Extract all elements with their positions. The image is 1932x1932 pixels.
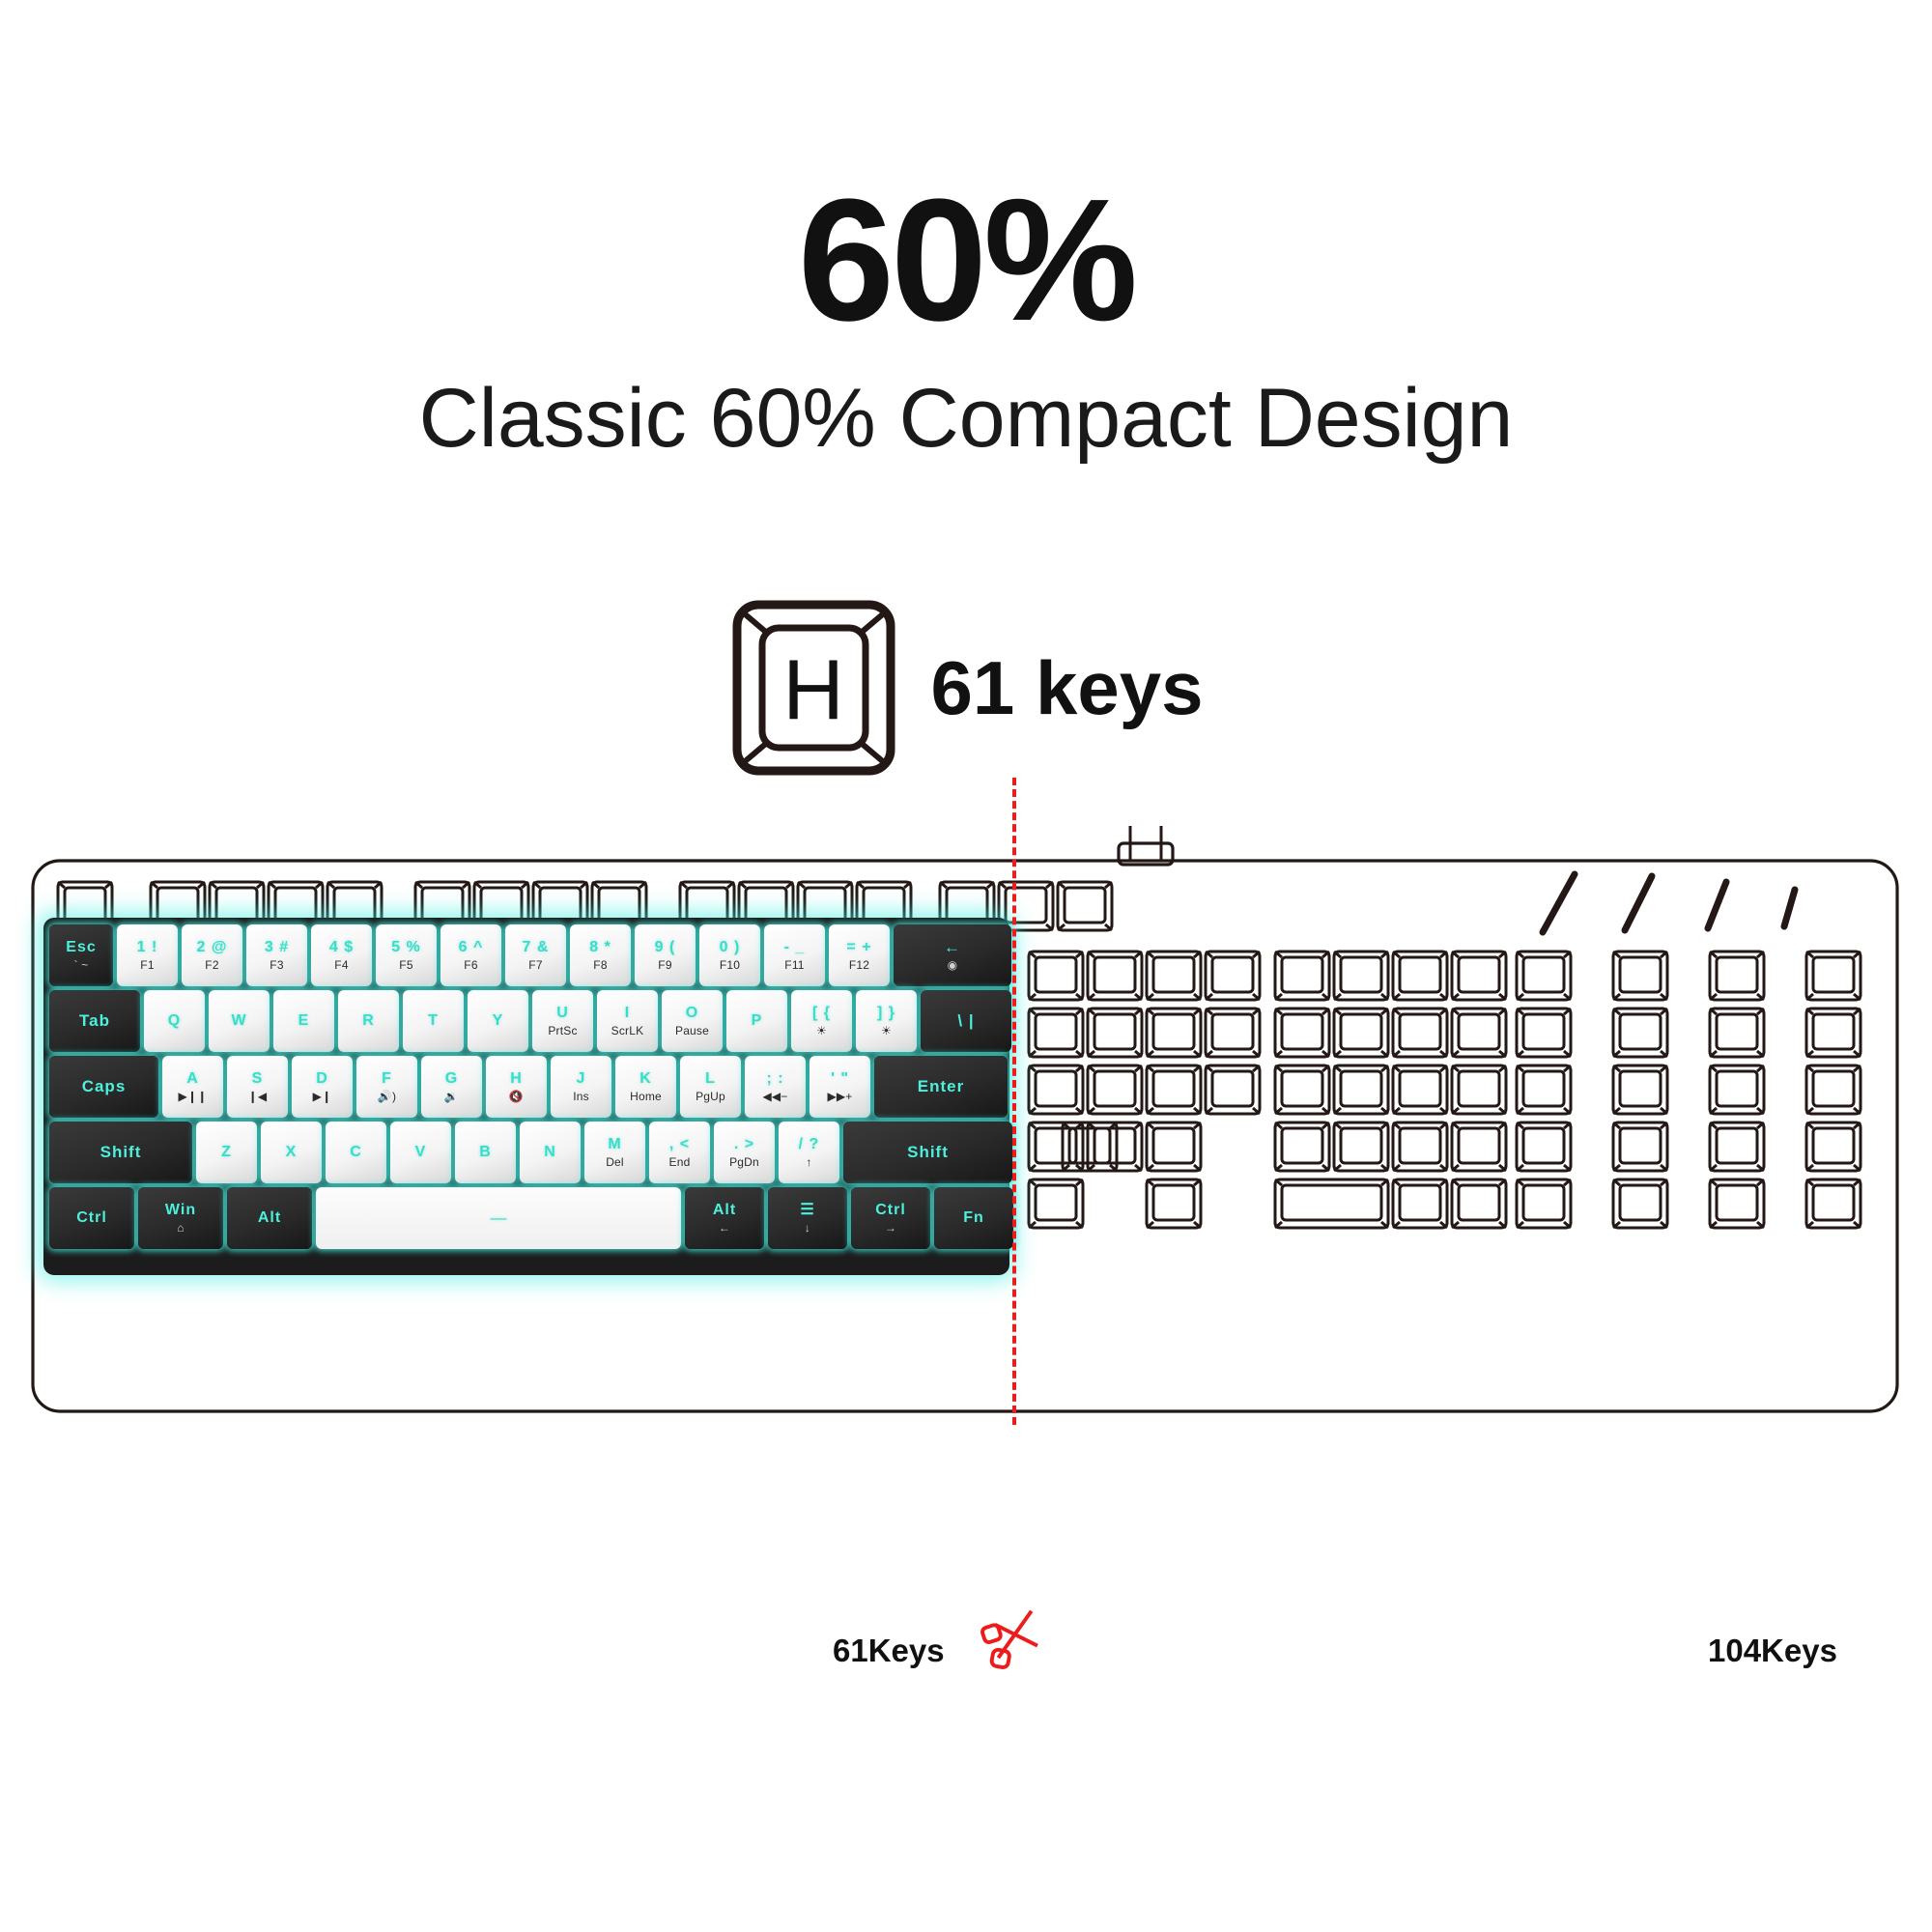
key-tab-1-0[interactable]: Tab — [49, 990, 140, 1052]
key-legend-secondary: ◀◀− — [762, 1091, 787, 1103]
key-legend-primary: , < — [669, 1137, 690, 1153]
keyboard-composite: Esc` ~1 !F12 @F23 #F34 $F45 %F56 ^F67 &F… — [29, 826, 1913, 1444]
key-legend-secondary: ◉ — [948, 959, 958, 972]
key-legend-primary: J — [577, 1071, 586, 1088]
outline-key — [1613, 1065, 1667, 1114]
key-esc-0-0[interactable]: Esc` ~ — [49, 924, 113, 986]
outline-key — [1393, 1009, 1447, 1057]
key-legend-secondary: F4 — [334, 959, 348, 972]
key-legend-secondary: F11 — [784, 959, 804, 972]
key-legend-primary: G — [445, 1071, 458, 1088]
outline-key — [1393, 1179, 1447, 1228]
key-a-2-1[interactable]: A▶❙❙ — [162, 1056, 223, 1118]
outline-key — [1452, 1179, 1506, 1228]
key-key-1-12[interactable]: ] }☀ — [856, 990, 917, 1052]
key-ctrl-4-0[interactable]: Ctrl — [49, 1187, 134, 1249]
key-g-2-5[interactable]: G🔉 — [421, 1056, 482, 1118]
key-legend-primary: X — [286, 1145, 298, 1161]
key-key-0-13[interactable]: ←◉ — [894, 924, 1011, 986]
outline-key — [1613, 1122, 1667, 1171]
page-subtitle: Classic 60% Compact Design — [0, 377, 1932, 460]
outline-key — [1334, 952, 1388, 1000]
outline-key — [1206, 1009, 1260, 1057]
outline-key — [1710, 1179, 1764, 1228]
key-legend-primary: R — [362, 1013, 375, 1030]
key-legend-primary: \ | — [957, 1012, 974, 1030]
key-h-2-6[interactable]: H🔇 — [486, 1056, 547, 1118]
key-legend-primary: 7 & — [523, 940, 550, 956]
key-shift-3-11[interactable]: Shift — [843, 1122, 1012, 1183]
key-k-2-8[interactable]: KHome — [615, 1056, 676, 1118]
outline-key — [1275, 952, 1329, 1000]
key-legend-primary: S — [252, 1071, 264, 1088]
key-legend-primary: Z — [221, 1145, 232, 1161]
caption-61-keys: 61Keys — [833, 1633, 945, 1669]
key-key-2-11[interactable]: ' "▶▶+ — [810, 1056, 870, 1118]
key-shift-3-0[interactable]: Shift — [49, 1122, 192, 1183]
key-enter-2-12[interactable]: Enter — [874, 1056, 1008, 1118]
outline-key — [1029, 1179, 1083, 1228]
outline-key — [1806, 1179, 1861, 1228]
key-legend-primary: ] } — [877, 1006, 895, 1022]
key-legend-primary: . > — [734, 1137, 754, 1153]
speed-lines — [1543, 874, 1795, 932]
key-legend-primary: 9 ( — [655, 940, 676, 956]
key-legend-secondary: ▶▶+ — [827, 1091, 852, 1103]
key-legend-secondary: F6 — [464, 959, 477, 972]
key-legend-primary: 8 * — [589, 940, 611, 956]
key-legend-secondary: PgDn — [729, 1156, 759, 1169]
badge-label: 61 keys — [931, 644, 1204, 732]
outline-key — [1063, 1122, 1117, 1171]
key-ctrl-4-6[interactable]: Ctrl→ — [851, 1187, 930, 1249]
key-legend-secondary: ↑ — [806, 1156, 811, 1169]
key-legend-primary: D — [316, 1071, 328, 1088]
outline-key — [1206, 1065, 1260, 1114]
outline-key — [1275, 1122, 1329, 1171]
key-u-1-7[interactable]: UPrtSc — [532, 990, 593, 1052]
key-key-0-11[interactable]: - _F11 — [764, 924, 825, 986]
key-legend-primary: P — [752, 1013, 763, 1030]
outline-key — [1275, 1065, 1329, 1114]
outline-key — [1613, 952, 1667, 1000]
key-legend-primary: U — [556, 1006, 569, 1022]
key-win-4-1[interactable]: Win⌂ — [138, 1187, 223, 1249]
key-f-2-4[interactable]: F🔊) — [356, 1056, 417, 1118]
outline-key — [1334, 1065, 1388, 1114]
outline-key — [1147, 1122, 1201, 1171]
key-b-3-5[interactable]: B — [455, 1122, 516, 1183]
key-legend-primary: T — [428, 1013, 439, 1030]
key-legend-primary: ; : — [766, 1071, 783, 1088]
key-7-0-7[interactable]: 7 &F7 — [505, 924, 566, 986]
key-legend-primary: E — [298, 1013, 310, 1030]
key-legend-primary: K — [639, 1071, 652, 1088]
key-alt-4-4[interactable]: Alt← — [685, 1187, 764, 1249]
key-legend-primary: F — [382, 1071, 392, 1088]
key-legend-secondary: 🔇 — [509, 1091, 524, 1103]
key-key-3-10[interactable]: / ?↑ — [779, 1122, 839, 1183]
key-5-0-5[interactable]: 5 %F5 — [376, 924, 437, 986]
key-v-3-4[interactable]: V — [390, 1122, 451, 1183]
key-legend-secondary: ⌂ — [177, 1222, 184, 1235]
outline-key — [1029, 1009, 1083, 1057]
key-key-4-5[interactable]: ☰↓ — [768, 1187, 847, 1249]
key-9-0-9[interactable]: 9 (F9 — [635, 924, 696, 986]
key-key-3-9[interactable]: . >PgDn — [714, 1122, 775, 1183]
key-legend-secondary: ☀ — [816, 1025, 827, 1037]
caption-104-keys: 104Keys — [1708, 1633, 1837, 1669]
key-legend-primary: Shift — [907, 1144, 949, 1161]
outline-key — [1147, 1179, 1201, 1228]
key-legend-primary: Alt — [713, 1203, 736, 1219]
key-legend-secondary: ScrLK — [611, 1025, 644, 1037]
key-m-3-7[interactable]: MDel — [584, 1122, 645, 1183]
key-2-0-2[interactable]: 2 @F2 — [182, 924, 242, 986]
key-legend-secondary: F3 — [270, 959, 283, 972]
key-q-1-1[interactable]: Q — [144, 990, 205, 1052]
key-legend-primary: - _ — [784, 940, 806, 956]
outline-key — [1147, 1065, 1201, 1114]
key-legend-secondary: ↓ — [805, 1222, 810, 1235]
outline-key — [1517, 1009, 1571, 1057]
outline-key — [1275, 1179, 1388, 1228]
key-legend-primary: N — [544, 1145, 556, 1161]
key-z-3-1[interactable]: Z — [196, 1122, 257, 1183]
key-legend-secondary: ❙◀ — [248, 1091, 268, 1103]
key-n-3-6[interactable]: N — [520, 1122, 581, 1183]
cut-line — [1012, 778, 1016, 1425]
key-e-1-3[interactable]: E — [273, 990, 334, 1052]
key-legend-primary: ☰ — [800, 1203, 814, 1219]
outline-key — [1613, 1179, 1667, 1228]
key-legend-secondary: PrtSc — [548, 1025, 577, 1037]
outline-key — [1517, 1179, 1571, 1228]
key-legend-secondary: F1 — [140, 959, 154, 972]
key-x-3-2[interactable]: X — [261, 1122, 322, 1183]
key-4-0-4[interactable]: 4 $F4 — [311, 924, 372, 986]
outline-key — [1806, 1065, 1861, 1114]
key-legend-primary: C — [350, 1145, 362, 1161]
key-caps-2-0[interactable]: Caps — [49, 1056, 158, 1118]
key-key-3-8[interactable]: , <End — [649, 1122, 710, 1183]
key-legend-primary: Caps — [82, 1078, 127, 1095]
outline-key — [1029, 1065, 1083, 1114]
keycap-letter: H — [782, 641, 844, 737]
key-legend-primary: — — [491, 1209, 507, 1227]
key-legend-secondary: ` ~ — [74, 959, 89, 972]
key-row: ShiftZXCVBNMDel, <End. >PgDn/ ?↑Shift — [49, 1122, 1004, 1183]
outline-key — [1147, 952, 1201, 1000]
outline-key — [1334, 1009, 1388, 1057]
key-r-1-4[interactable]: R — [338, 990, 399, 1052]
key-p-1-10[interactable]: P — [726, 990, 787, 1052]
key-fn-4-7[interactable]: Fn — [934, 1187, 1013, 1249]
outline-key — [1517, 1065, 1571, 1114]
key-legend-primary: B — [479, 1145, 492, 1161]
key-legend-primary: Alt — [258, 1210, 281, 1227]
key-row: TabQWERTYUPrtScIScrLKOPauseP[ {☀] }☀\ | — [49, 990, 1004, 1052]
key-legend-primary: 4 $ — [329, 940, 354, 956]
key-legend-secondary: 🔉 — [444, 1091, 459, 1103]
key-legend-primary: V — [415, 1145, 427, 1161]
key-legend-secondary: End — [669, 1156, 691, 1169]
key-t-1-5[interactable]: T — [403, 990, 464, 1052]
outline-key — [1517, 952, 1571, 1000]
key-legend-secondary: 🔊) — [378, 1091, 396, 1103]
outline-key — [1806, 1009, 1861, 1057]
outline-key — [1206, 952, 1260, 1000]
key-legend-secondary: Del — [606, 1156, 624, 1169]
key-legend-primary: Q — [168, 1013, 181, 1030]
key-0-0-10[interactable]: 0 )F10 — [699, 924, 760, 986]
keyboard-60-percent[interactable]: Esc` ~1 !F12 @F23 #F34 $F45 %F56 ^F67 &F… — [43, 918, 1009, 1275]
outline-key — [1393, 1065, 1447, 1114]
key-legend-primary: Shift — [100, 1144, 142, 1161]
key-legend-primary: I — [625, 1006, 630, 1022]
outline-key — [1088, 1009, 1142, 1057]
key-key-0-12[interactable]: = +F12 — [829, 924, 890, 986]
key-legend-primary: 3 # — [265, 940, 289, 956]
key-legend-primary: Tab — [79, 1012, 110, 1030]
key-legend-primary: = + — [846, 940, 871, 956]
key-y-1-6[interactable]: Y — [468, 990, 528, 1052]
key-legend-secondary: F7 — [528, 959, 542, 972]
key-legend-primary: 0 ) — [720, 940, 741, 956]
outline-key — [1452, 1122, 1506, 1171]
key-legend-primary: ' " — [831, 1071, 849, 1088]
key-legend-secondary: ← — [719, 1222, 730, 1235]
outline-key — [1029, 952, 1083, 1000]
key-row: CtrlWin⌂Alt—Alt←☰↓Ctrl→Fn — [49, 1187, 1004, 1249]
keycap-badge: H 61 keys — [0, 599, 1932, 778]
key-key-4-3[interactable]: — — [316, 1187, 681, 1249]
key-legend-secondary: F10 — [720, 959, 740, 972]
key-key-1-13[interactable]: \ | — [921, 990, 1011, 1052]
outline-key — [1452, 952, 1506, 1000]
key-legend-primary: 5 % — [391, 940, 421, 956]
key-3-0-3[interactable]: 3 #F3 — [246, 924, 307, 986]
key-legend-secondary: F2 — [205, 959, 218, 972]
outline-key — [1147, 1009, 1201, 1057]
key-legend-primary: M — [608, 1137, 621, 1153]
outline-key — [1517, 1122, 1571, 1171]
key-legend-secondary: ▶❙ — [313, 1091, 332, 1103]
key-legend-primary: Ctrl — [875, 1203, 906, 1219]
key-8-0-8[interactable]: 8 *F8 — [570, 924, 631, 986]
outline-key — [1088, 1065, 1142, 1114]
key-legend-primary: 6 ^ — [459, 940, 484, 956]
key-row: Esc` ~1 !F12 @F23 #F34 $F45 %F56 ^F67 &F… — [49, 924, 1004, 986]
outline-key — [1710, 1122, 1764, 1171]
key-legend-secondary: Pause — [675, 1025, 709, 1037]
outline-key — [1334, 1122, 1388, 1171]
key-legend-secondary: ▶❙❙ — [179, 1091, 208, 1103]
key-legend-secondary: F8 — [593, 959, 607, 972]
scissors-icon — [976, 1604, 1051, 1679]
key-alt-4-2[interactable]: Alt — [227, 1187, 312, 1249]
outline-key — [1710, 952, 1764, 1000]
key-legend-primary: A — [186, 1071, 199, 1088]
key-legend-primary: Esc — [66, 940, 96, 956]
outline-key — [1806, 1122, 1861, 1171]
key-legend-secondary: → — [885, 1222, 896, 1235]
outline-key — [1393, 952, 1447, 1000]
key-legend-primary: Win — [165, 1203, 196, 1219]
key-legend-secondary: F5 — [399, 959, 412, 972]
key-legend-primary: Enter — [918, 1078, 964, 1095]
key-key-1-11[interactable]: [ {☀ — [791, 990, 852, 1052]
key-legend-primary: 1 ! — [137, 940, 158, 956]
outline-key — [1613, 1009, 1667, 1057]
key-i-1-8[interactable]: IScrLK — [597, 990, 658, 1052]
outline-key — [1452, 1009, 1506, 1057]
key-6-0-6[interactable]: 6 ^F6 — [440, 924, 501, 986]
key-o-1-9[interactable]: OPause — [662, 990, 723, 1052]
key-key-2-10[interactable]: ; :◀◀− — [745, 1056, 806, 1118]
outline-key — [1452, 1065, 1506, 1114]
outline-key — [1088, 952, 1142, 1000]
key-legend-secondary: Ins — [573, 1091, 589, 1103]
outline-key — [1806, 952, 1861, 1000]
key-w-1-2[interactable]: W — [209, 990, 270, 1052]
key-legend-primary: 2 @ — [197, 940, 228, 956]
key-legend-primary: O — [686, 1006, 698, 1022]
key-legend-secondary: Home — [630, 1091, 662, 1103]
key-legend-secondary: F12 — [849, 959, 869, 972]
key-legend-primary: ← — [944, 939, 961, 956]
key-legend-primary: W — [231, 1013, 246, 1030]
key-j-2-7[interactable]: JIns — [551, 1056, 611, 1118]
outline-key — [1058, 882, 1112, 930]
key-legend-primary: [ { — [812, 1006, 831, 1022]
key-c-3-3[interactable]: C — [326, 1122, 386, 1183]
page-headline: 60% — [0, 174, 1932, 348]
key-legend-primary: / ? — [799, 1137, 820, 1153]
key-legend-primary: Ctrl — [76, 1210, 107, 1227]
key-legend-primary: Y — [493, 1013, 504, 1030]
key-legend-secondary: F9 — [658, 959, 671, 972]
key-row: CapsA▶❙❙S❙◀D▶❙F🔊)G🔉H🔇JInsKHomeLPgUp; :◀◀… — [49, 1056, 1004, 1118]
keycap-icon: H — [729, 599, 898, 778]
key-legend-primary: Fn — [963, 1210, 984, 1227]
outline-key — [1710, 1009, 1764, 1057]
key-legend-primary: L — [705, 1071, 716, 1088]
key-1-0-1[interactable]: 1 !F1 — [117, 924, 178, 986]
outline-key — [1393, 1122, 1447, 1171]
key-l-2-9[interactable]: LPgUp — [680, 1056, 741, 1118]
outline-key — [1275, 1009, 1329, 1057]
key-s-2-2[interactable]: S❙◀ — [227, 1056, 288, 1118]
outline-key — [1710, 1065, 1764, 1114]
key-legend-secondary: ☀ — [881, 1025, 892, 1037]
key-legend-primary: H — [510, 1071, 523, 1088]
key-legend-secondary: PgUp — [696, 1091, 725, 1103]
key-d-2-3[interactable]: D▶❙ — [292, 1056, 353, 1118]
